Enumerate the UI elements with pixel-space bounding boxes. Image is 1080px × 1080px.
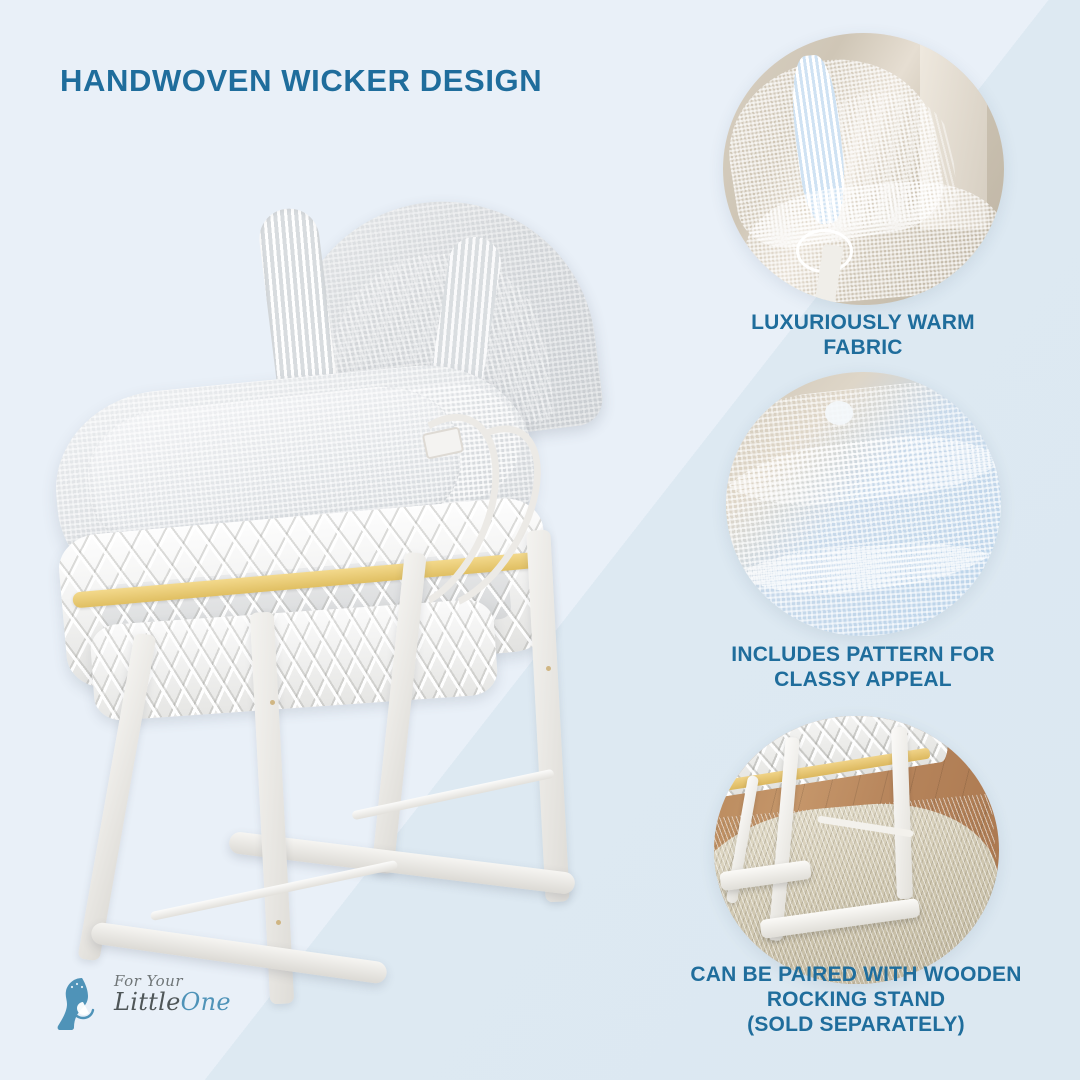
caption-line: CLASSY APPEAL bbox=[680, 667, 1046, 692]
brand-line-two: LittleOne bbox=[114, 988, 244, 1016]
feature-caption-pattern: INCLUDES PATTERN FOR CLASSY APPEAL bbox=[680, 642, 1046, 692]
caption-line: INCLUDES PATTERN FOR bbox=[680, 642, 1046, 667]
hero-product-image bbox=[38, 180, 638, 1000]
feature-image-rocking-stand bbox=[714, 716, 999, 984]
mother-and-baby-icon bbox=[52, 974, 110, 1036]
feature-image-warm-fabric bbox=[723, 33, 1004, 305]
stand-screw bbox=[276, 920, 281, 925]
feature-caption-rocking-stand: CAN BE PAIRED WITH WOODEN ROCKING STAND … bbox=[646, 962, 1066, 1038]
caption-line: CAN BE PAIRED WITH WOODEN bbox=[646, 962, 1066, 987]
furniture-knob bbox=[825, 401, 853, 425]
infographic-canvas: HANDWOVEN WICKER DESIGN bbox=[0, 0, 1080, 1080]
stand-leg-back-right bbox=[526, 530, 569, 903]
caption-line: (SOLD SEPARATELY) bbox=[646, 1012, 1066, 1037]
brand-little: Little bbox=[114, 988, 181, 1016]
stand-screw bbox=[270, 700, 275, 705]
caption-line: ROCKING STAND bbox=[646, 987, 1066, 1012]
feature-caption-warm-fabric: LUXURIOUSLY WARM FABRIC bbox=[690, 310, 1036, 360]
caption-line: LUXURIOUSLY WARM bbox=[690, 310, 1036, 335]
stand-screw bbox=[546, 666, 551, 671]
feature-image-pattern bbox=[726, 372, 1001, 636]
brand-logo: For Your LittleOne bbox=[52, 968, 232, 1042]
brand-wordmark: For Your LittleOne bbox=[114, 972, 244, 1016]
caption-line: FABRIC bbox=[690, 335, 1036, 360]
page-title: HANDWOVEN WICKER DESIGN bbox=[60, 64, 542, 98]
brand-one: One bbox=[181, 988, 231, 1016]
